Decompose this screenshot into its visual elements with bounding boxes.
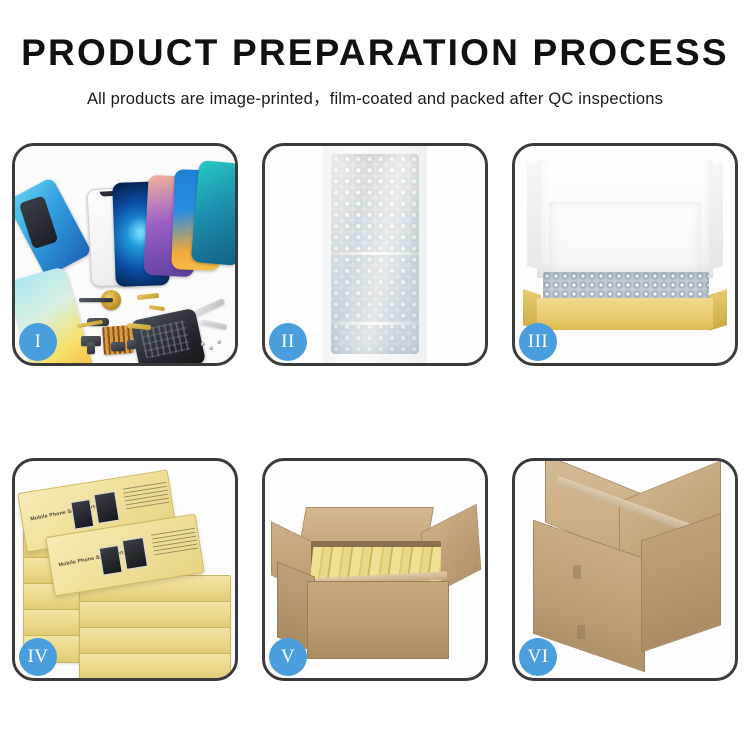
process-step-6[interactable]: VI — [512, 458, 738, 681]
process-step-1[interactable]: I — [12, 143, 238, 366]
sensor-chip-part — [127, 340, 136, 349]
stacked-box — [79, 601, 231, 629]
step-badge-5: V — [269, 638, 307, 676]
box-screen-image — [99, 545, 123, 576]
step-badge-4: IV — [19, 638, 57, 676]
page-title: PRODUCT PREPARATION PROCESS — [0, 34, 750, 73]
process-step-2[interactable]: II — [262, 143, 488, 366]
earpiece-mesh-part — [79, 298, 113, 302]
foam-padding — [549, 202, 701, 272]
box-screen-image — [70, 499, 94, 530]
step-badge-6: VI — [519, 638, 557, 676]
box-spec-lines — [151, 527, 198, 556]
process-step-3[interactable]: III — [512, 143, 738, 366]
stacked-box — [79, 627, 231, 655]
screw-part — [209, 346, 213, 350]
stacked-box — [79, 653, 231, 678]
step-badge-1: I — [19, 323, 57, 361]
screw-part — [217, 340, 221, 344]
box-screen-image — [93, 491, 119, 524]
box-stack: Mobile Phone Spare Parts Mobile Phone Sp… — [21, 479, 233, 669]
vibrator-part — [111, 342, 125, 351]
page-header: PRODUCT PREPARATION PROCESS All products… — [0, 0, 750, 109]
carton-seam-mark — [573, 565, 581, 579]
step-badge-3: III — [519, 323, 557, 361]
carton-seam-mark — [577, 625, 585, 639]
box-spec-lines — [123, 481, 170, 510]
bubble-wrap-seam — [329, 252, 421, 255]
page-subtitle: All products are image-printed，film-coat… — [0, 85, 750, 109]
bubble-wrap-seam — [329, 322, 421, 325]
process-step-4[interactable]: Mobile Phone Spare Parts Mobile Phone Sp… — [12, 458, 238, 681]
sim-tray-part — [87, 342, 95, 354]
step-badge-2: II — [269, 323, 307, 361]
phone-teal-display — [191, 160, 235, 266]
screw-part — [201, 342, 205, 346]
box-screen-image — [122, 537, 148, 570]
process-steps-grid: I II III — [12, 143, 738, 681]
carton-front-face — [307, 581, 449, 659]
box-front-panel — [537, 298, 713, 330]
process-step-5[interactable]: V — [262, 458, 488, 681]
